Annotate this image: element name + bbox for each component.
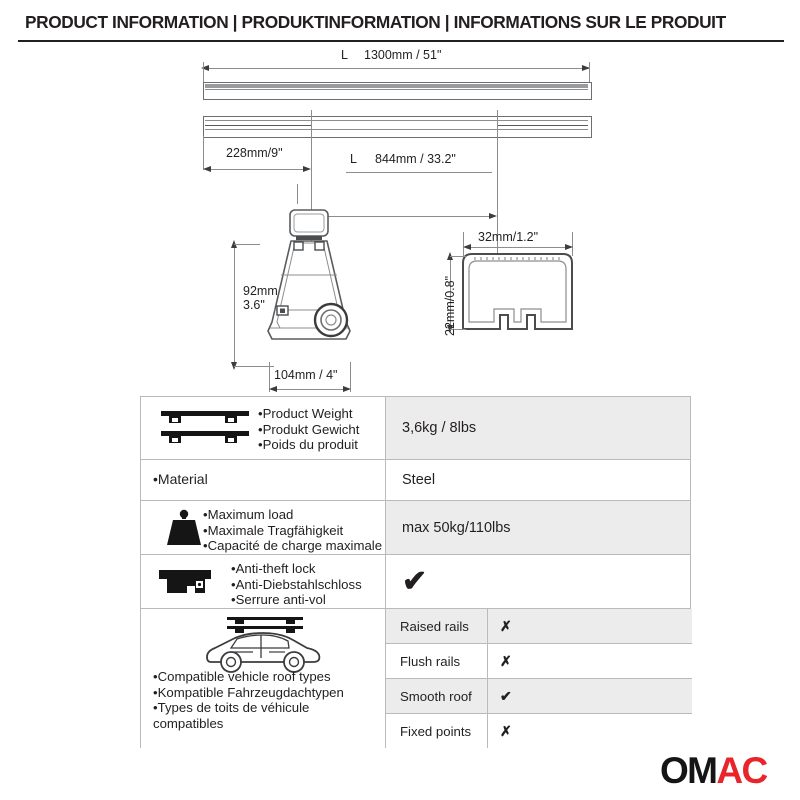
profile-height-ext-top <box>450 256 466 257</box>
product-information-sheet: PRODUCT INFORMATION | PRODUKTINFORMATION… <box>0 0 800 800</box>
foot-leader-line <box>297 184 298 204</box>
label-en: •Maximum load <box>203 507 382 523</box>
roof-option-flush-rails[interactable]: Flush rails ✗ <box>386 644 692 679</box>
logo-text-ac: AC <box>716 750 766 791</box>
label-en: •Anti-theft lock <box>231 561 362 577</box>
label-fr: •Serrure anti-vol <box>231 592 362 608</box>
foot-height-dim-line <box>234 244 235 366</box>
foot-width-arrow-right <box>343 386 351 392</box>
end-offset-arrow-right <box>303 166 311 172</box>
material-value: Steel <box>402 472 435 488</box>
row-labels: •Anti-theft lock •Anti-Diebstahlschloss … <box>231 561 362 608</box>
roof-option-name: Fixed points <box>386 714 488 748</box>
roof-option-mark: ✔ <box>488 679 692 713</box>
label-en: •Product Weight <box>258 406 359 422</box>
profile-width-arrow-left <box>463 244 471 250</box>
label-de: •Produkt Gewicht <box>258 422 359 438</box>
foot-height-ext-bottom <box>234 366 274 367</box>
span-value: 844mm / 33.2" <box>375 152 456 166</box>
span-underline <box>346 172 492 173</box>
row-label-cell: •Product Weight •Produkt Gewicht •Poids … <box>141 397 386 459</box>
roof-option-name: Flush rails <box>386 644 488 678</box>
specification-table: •Product Weight •Produkt Gewicht •Poids … <box>140 396 691 748</box>
label-fr: •Types de toits de véhicule compatibles <box>153 700 381 731</box>
roof-option-mark: ✗ <box>488 644 692 678</box>
product-weight-value: 3,6kg / 8lbs <box>402 420 476 436</box>
label-fr: •Capacité de charge maximale <box>203 538 382 554</box>
header-divider <box>18 40 784 42</box>
roof-option-name: Raised rails <box>386 609 488 643</box>
profile-height-value: 22mm/0.8" <box>443 276 457 336</box>
table-row-maximum-load: •Maximum load •Maximale Tragfähigkeit •C… <box>141 501 690 555</box>
roof-option-smooth-roof[interactable]: Smooth roof ✔ <box>386 679 692 714</box>
end-offset-value: 228mm/9" <box>226 146 283 160</box>
profile-cross-section-drawing <box>455 249 580 344</box>
technical-drawing: L 1300mm / 51" 228mm/9" L 844mm / 33.2" <box>0 44 800 389</box>
overall-length-prefix: L <box>341 48 348 62</box>
foot-height-ext-top <box>234 244 260 245</box>
row-label-cell: •Maximum load •Maximale Tragfähigkeit •C… <box>141 501 386 554</box>
page-header: PRODUCT INFORMATION | PRODUKTINFORMATION… <box>0 0 800 44</box>
page-title: PRODUCT INFORMATION | PRODUKTINFORMATION… <box>25 12 785 33</box>
profile-width-value: 32mm/1.2" <box>478 230 538 244</box>
row-value-cell: ✔ <box>386 555 690 608</box>
crossbar-foot-mark-right <box>497 125 588 126</box>
roof-option-raised-rails[interactable]: Raised rails ✗ <box>386 609 692 644</box>
span-arrow-right <box>489 213 497 219</box>
anti-theft-lock-mark: ✔ <box>402 567 427 597</box>
row-value-cell: 3,6kg / 8lbs <box>386 397 690 459</box>
foot-width-dim-line <box>271 389 349 390</box>
table-row-product-weight: •Product Weight •Produkt Gewicht •Poids … <box>141 397 690 460</box>
omac-logo: OMAC <box>660 752 767 789</box>
table-row-anti-theft-lock: •Anti-theft lock •Anti-Diebstahlschloss … <box>141 555 690 609</box>
table-row-material: •Material Steel <box>141 460 690 501</box>
profile-width-dim-line <box>465 247 571 248</box>
end-offset-dim-line <box>206 169 307 170</box>
foot-height-line1: 92mm <box>243 284 278 298</box>
roof-option-mark: ✗ <box>488 609 692 643</box>
crossbars-icon <box>159 409 251 449</box>
row-label-cell: •Material <box>141 460 386 500</box>
row-value-cell: Steel <box>386 460 690 500</box>
maximum-load-value: max 50kg/110lbs <box>402 520 511 536</box>
label-de: •Anti-Diebstahlschloss <box>231 577 362 593</box>
row-value-cell: max 50kg/110lbs <box>386 501 690 554</box>
roof-option-name: Smooth roof <box>386 679 488 713</box>
crossbar-top-highlight <box>205 84 588 88</box>
foot-width-arrow-left <box>269 386 277 392</box>
overall-length-dim-line <box>203 68 589 69</box>
row-label-cell: •Anti-theft lock •Anti-Diebstahlschloss … <box>141 555 386 608</box>
span-prefix: L <box>350 152 357 166</box>
foot-height-line2: 3.6" <box>243 298 265 312</box>
label-de: •Kompatible Fahrzeugdachtypen <box>153 685 381 701</box>
roof-option-fixed-points[interactable]: Fixed points ✗ <box>386 714 692 748</box>
label-material: •Material <box>153 472 208 488</box>
car-with-rack-icon <box>201 614 326 676</box>
weight-icon <box>161 509 207 549</box>
foot-width-value: 104mm / 4" <box>274 368 338 382</box>
profile-width-arrow-right <box>565 244 573 250</box>
row-labels: •Product Weight •Produkt Gewicht •Poids … <box>258 406 359 453</box>
end-offset-arrow-left <box>203 166 211 172</box>
roof-option-mark: ✗ <box>488 714 692 748</box>
row-label-cell: •Compatible vehicle roof types •Kompatib… <box>141 609 386 748</box>
label-de: •Maximale Tragfähigkeit <box>203 523 382 539</box>
logo-text-om: OM <box>660 750 716 791</box>
row-labels: •Maximum load •Maximale Tragfähigkeit •C… <box>203 507 382 554</box>
lock-icon <box>157 569 217 597</box>
crossbar-bottom-line-a <box>205 120 588 121</box>
crossbar-top-inner-line <box>205 89 588 90</box>
label-fr: •Poids du produit <box>258 437 359 453</box>
crossbar-foot-mark-left <box>205 125 311 126</box>
label-en: •Compatible vehicle roof types <box>153 669 381 685</box>
overall-length-value: 1300mm / 51" <box>364 48 441 62</box>
table-row-roof-types: •Compatible vehicle roof types •Kompatib… <box>141 609 690 748</box>
row-labels: •Compatible vehicle roof types •Kompatib… <box>153 669 381 731</box>
crossbar-bottom-line-b <box>205 129 588 130</box>
